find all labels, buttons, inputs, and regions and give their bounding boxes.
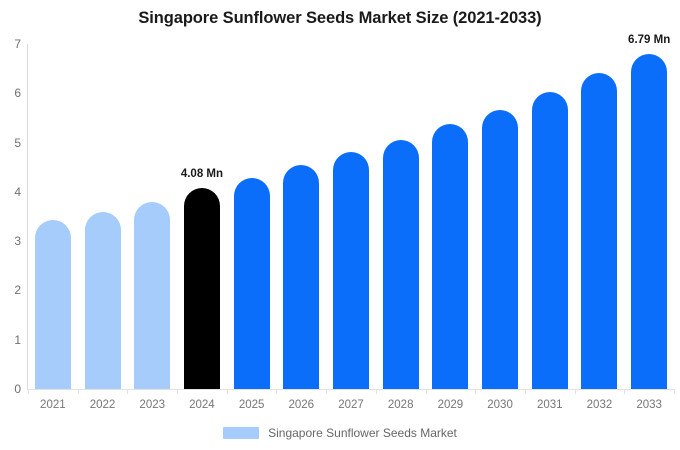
x-axis-tick-mark	[376, 389, 377, 394]
bar-value-label-2024: 4.08 Mn	[181, 168, 223, 180]
bar-chart: Singapore Sunflower Seeds Market Size (2…	[0, 0, 680, 450]
x-axis-tick-mark	[127, 389, 128, 394]
bar-slot	[35, 44, 71, 389]
x-axis-tick-label-2026: 2026	[289, 399, 315, 411]
x-axis-tick-label-2024: 2024	[189, 399, 215, 411]
bar-2023[interactable]	[134, 202, 170, 389]
bar-slot	[383, 44, 419, 389]
x-axis-tick-mark	[525, 389, 526, 394]
bar-value-label-2033: 6.79 Mn	[628, 34, 670, 46]
x-axis-tick-label-2031: 2031	[537, 399, 563, 411]
bar-slot: 6.79 Mn	[631, 44, 667, 389]
y-axis-tick-label: 6	[1, 87, 21, 99]
bar-slot	[333, 44, 369, 389]
bar-2026[interactable]	[283, 165, 319, 389]
x-axis-tick-label-2030: 2030	[487, 399, 513, 411]
bar-2022[interactable]	[85, 212, 121, 389]
bar-2029[interactable]	[432, 124, 468, 389]
y-axis-tick-label: 1	[1, 334, 21, 346]
bars-layer: 4.08 Mn6.79 Mn	[28, 44, 674, 389]
bar-slot	[85, 44, 121, 389]
y-axis-tick-label: 5	[1, 137, 21, 149]
bar-slot	[581, 44, 617, 389]
bar-slot	[432, 44, 468, 389]
y-axis-tick-labels: 01234567	[0, 44, 21, 390]
x-axis-tick-mark	[475, 389, 476, 394]
x-axis-tick-mark	[28, 389, 29, 394]
x-axis-tick-label-2032: 2032	[587, 399, 613, 411]
x-axis-tick-label-2029: 2029	[438, 399, 464, 411]
bar-2021[interactable]	[35, 220, 71, 389]
x-axis-tick-label-2022: 2022	[90, 399, 116, 411]
y-axis-tick-label: 3	[1, 235, 21, 247]
bar-slot	[482, 44, 518, 389]
x-axis-tick-label-2021: 2021	[40, 399, 66, 411]
x-axis-tick-mark	[326, 389, 327, 394]
bar-2027[interactable]	[333, 152, 369, 389]
x-axis-tick-mark	[177, 389, 178, 394]
x-axis-tick-mark	[276, 389, 277, 394]
y-axis-tick-label: 4	[1, 186, 21, 198]
bar-2032[interactable]	[581, 73, 617, 389]
bar-2028[interactable]	[383, 140, 419, 389]
x-axis-tick-mark	[674, 389, 675, 394]
x-axis-tick-mark	[227, 389, 228, 394]
y-axis-tick-label: 7	[1, 38, 21, 50]
legend-swatch-icon	[223, 427, 259, 439]
x-axis-line	[28, 389, 674, 390]
bar-slot	[532, 44, 568, 389]
bar-2033[interactable]	[631, 54, 667, 389]
x-axis-tick-label-2027: 2027	[338, 399, 364, 411]
bar-2030[interactable]	[482, 110, 518, 389]
bar-slot: 4.08 Mn	[184, 44, 220, 389]
y-axis-tick-label: 2	[1, 284, 21, 296]
x-axis-tick-label-2023: 2023	[139, 399, 165, 411]
chart-legend: Singapore Sunflower Seeds Market	[0, 426, 680, 440]
x-axis-tick-label-2025: 2025	[239, 399, 265, 411]
x-axis-tick-mark	[624, 389, 625, 394]
legend-label: Singapore Sunflower Seeds Market	[268, 426, 457, 440]
bar-slot	[134, 44, 170, 389]
x-axis-tick-mark	[78, 389, 79, 394]
legend-item[interactable]: Singapore Sunflower Seeds Market	[223, 426, 457, 440]
y-axis-tick-label: 0	[1, 383, 21, 395]
bar-2031[interactable]	[532, 92, 568, 389]
bar-2025[interactable]	[234, 178, 270, 389]
bar-slot	[234, 44, 270, 389]
chart-title: Singapore Sunflower Seeds Market Size (2…	[0, 9, 680, 28]
x-axis-tick-mark	[426, 389, 427, 394]
x-axis-tick-label-2028: 2028	[388, 399, 414, 411]
x-axis-tick-label-2033: 2033	[636, 399, 662, 411]
x-axis-tick-mark	[575, 389, 576, 394]
bar-2024[interactable]	[184, 188, 220, 389]
bar-slot	[283, 44, 319, 389]
